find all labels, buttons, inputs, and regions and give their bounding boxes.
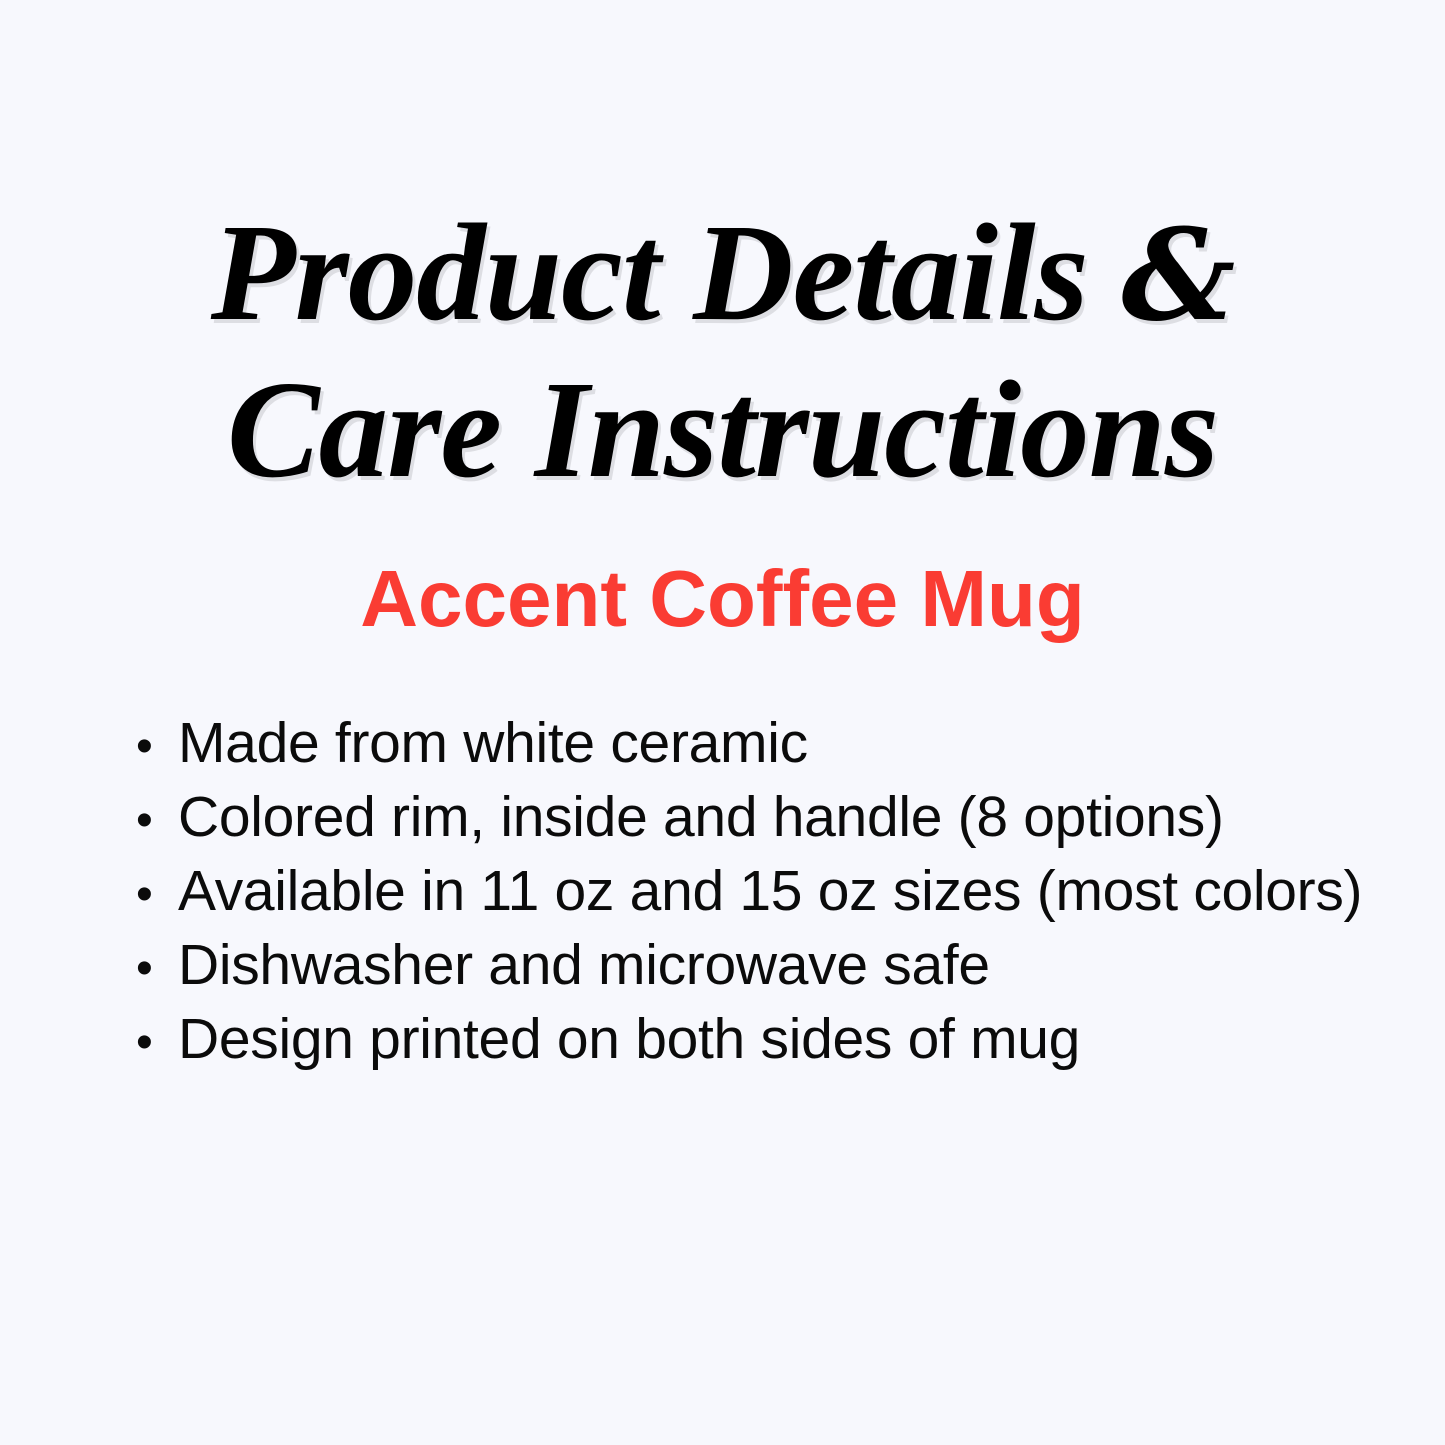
bullet-icon: • [136, 710, 178, 784]
list-item: • Made from white ceramic [0, 706, 1445, 780]
ampersand-glyph: & [1121, 201, 1234, 349]
bullet-icon: • [136, 858, 178, 932]
page-title: Product Details & Care Instructions [0, 196, 1445, 508]
product-feature-list: • Made from white ceramic • Colored rim,… [0, 706, 1445, 1076]
product-details-card: Product Details & Care Instructions Acce… [0, 0, 1445, 1445]
bullet-icon: • [136, 932, 178, 1006]
list-item: • Available in 11 oz and 15 oz sizes (mo… [0, 854, 1445, 928]
page-title-line-2: Care Instructions [0, 353, 1445, 508]
bullet-icon: • [136, 1006, 178, 1080]
bullet-icon: • [136, 784, 178, 858]
list-item-label: Dishwasher and microwave safe [178, 928, 990, 1002]
list-item: • Dishwasher and microwave safe [0, 928, 1445, 1002]
list-item: • Design printed on both sides of mug [0, 1002, 1445, 1076]
page-title-line-1: Product Details & [0, 196, 1445, 353]
list-item-label: Made from white ceramic [178, 706, 808, 780]
list-item-label: Design printed on both sides of mug [178, 1002, 1080, 1076]
list-item-label: Colored rim, inside and handle (8 option… [178, 780, 1224, 854]
list-item-label: Available in 11 oz and 15 oz sizes (most… [178, 854, 1362, 928]
product-name-subtitle: Accent Coffee Mug [0, 553, 1445, 645]
page-title-line-1-text: Product Details [211, 196, 1122, 350]
list-item: • Colored rim, inside and handle (8 opti… [0, 780, 1445, 854]
